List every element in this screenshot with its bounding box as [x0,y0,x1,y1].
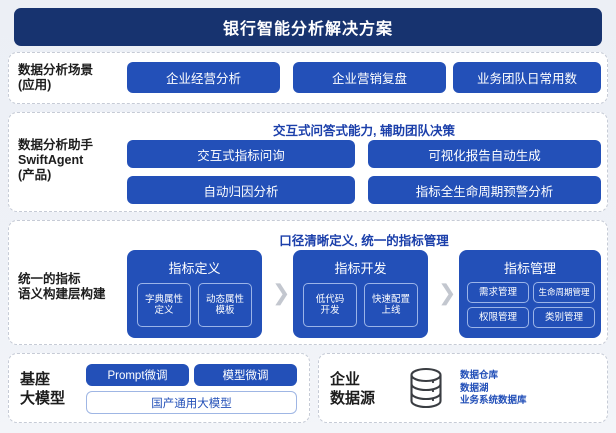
base-model-pill-0[interactable]: Prompt微调 [86,364,189,386]
scene-row-label: 数据分析场景 (应用) [18,63,123,93]
stage-title: 指标定义 [127,258,262,277]
stage-indicator-definition[interactable]: 指标定义 字典属性 定义 动态属性 模板 [127,250,262,338]
stage-indicator-development[interactable]: 指标开发 低代码 开发 快速配置 上线 [293,250,428,338]
agent-item-2[interactable]: 自动归因分析 [127,176,355,204]
database-icon [406,366,446,410]
stage-sub[interactable]: 低代码 开发 [303,283,357,327]
data-source-items: 数据仓库 数据湖 业务系统数据库 [460,370,600,408]
agent-row-label: 数据分析助手 SwiftAgent (产品) [18,138,126,183]
base-model-pill-1[interactable]: 模型微调 [194,364,297,386]
stage-indicator-management[interactable]: 指标管理 需求管理 生命周期管理 权限管理 类别管理 [459,250,601,338]
stage-sub[interactable]: 类别管理 [533,307,595,328]
page-title: 银行智能分析解决方案 [14,8,602,46]
stage-title: 指标开发 [293,258,428,277]
agent-heading: 交互式问答式能力, 辅助团队决策 [127,120,601,139]
scene-item-2[interactable]: 业务团队日常用数 [453,62,601,93]
scene-item-1[interactable]: 企业营销复盘 [293,62,446,93]
solution-architecture-diagram: 银行智能分析解决方案 数据分析场景 (应用) 企业经营分析 企业营销复盘 业务团… [0,0,616,433]
data-source-label: 企业 数据源 [330,370,400,408]
base-model-label: 基座 大模型 [20,370,90,408]
scene-item-0[interactable]: 企业经营分析 [127,62,280,93]
stage-sub[interactable]: 权限管理 [467,307,529,328]
chevron-right-icon: ❯ [438,283,456,305]
stage-sub[interactable]: 需求管理 [467,282,529,303]
agent-item-1[interactable]: 可视化报告自动生成 [368,140,601,168]
stage-sub[interactable]: 生命周期管理 [533,282,595,303]
chevron-right-icon: ❯ [272,283,290,305]
agent-item-0[interactable]: 交互式指标问询 [127,140,355,168]
stage-title: 指标管理 [459,258,601,277]
stage-sub[interactable]: 字典属性 定义 [137,283,191,327]
stage-sub[interactable]: 动态属性 模板 [198,283,252,327]
semantic-row-label: 统一的指标 语义构建层构建 [18,272,128,302]
semantic-heading: 口径清晰定义, 统一的指标管理 [127,230,601,249]
stage-sub[interactable]: 快速配置 上线 [364,283,418,327]
agent-item-3[interactable]: 指标全生命周期预警分析 [368,176,601,204]
base-model-wide-pill[interactable]: 国产通用大模型 [86,391,297,414]
